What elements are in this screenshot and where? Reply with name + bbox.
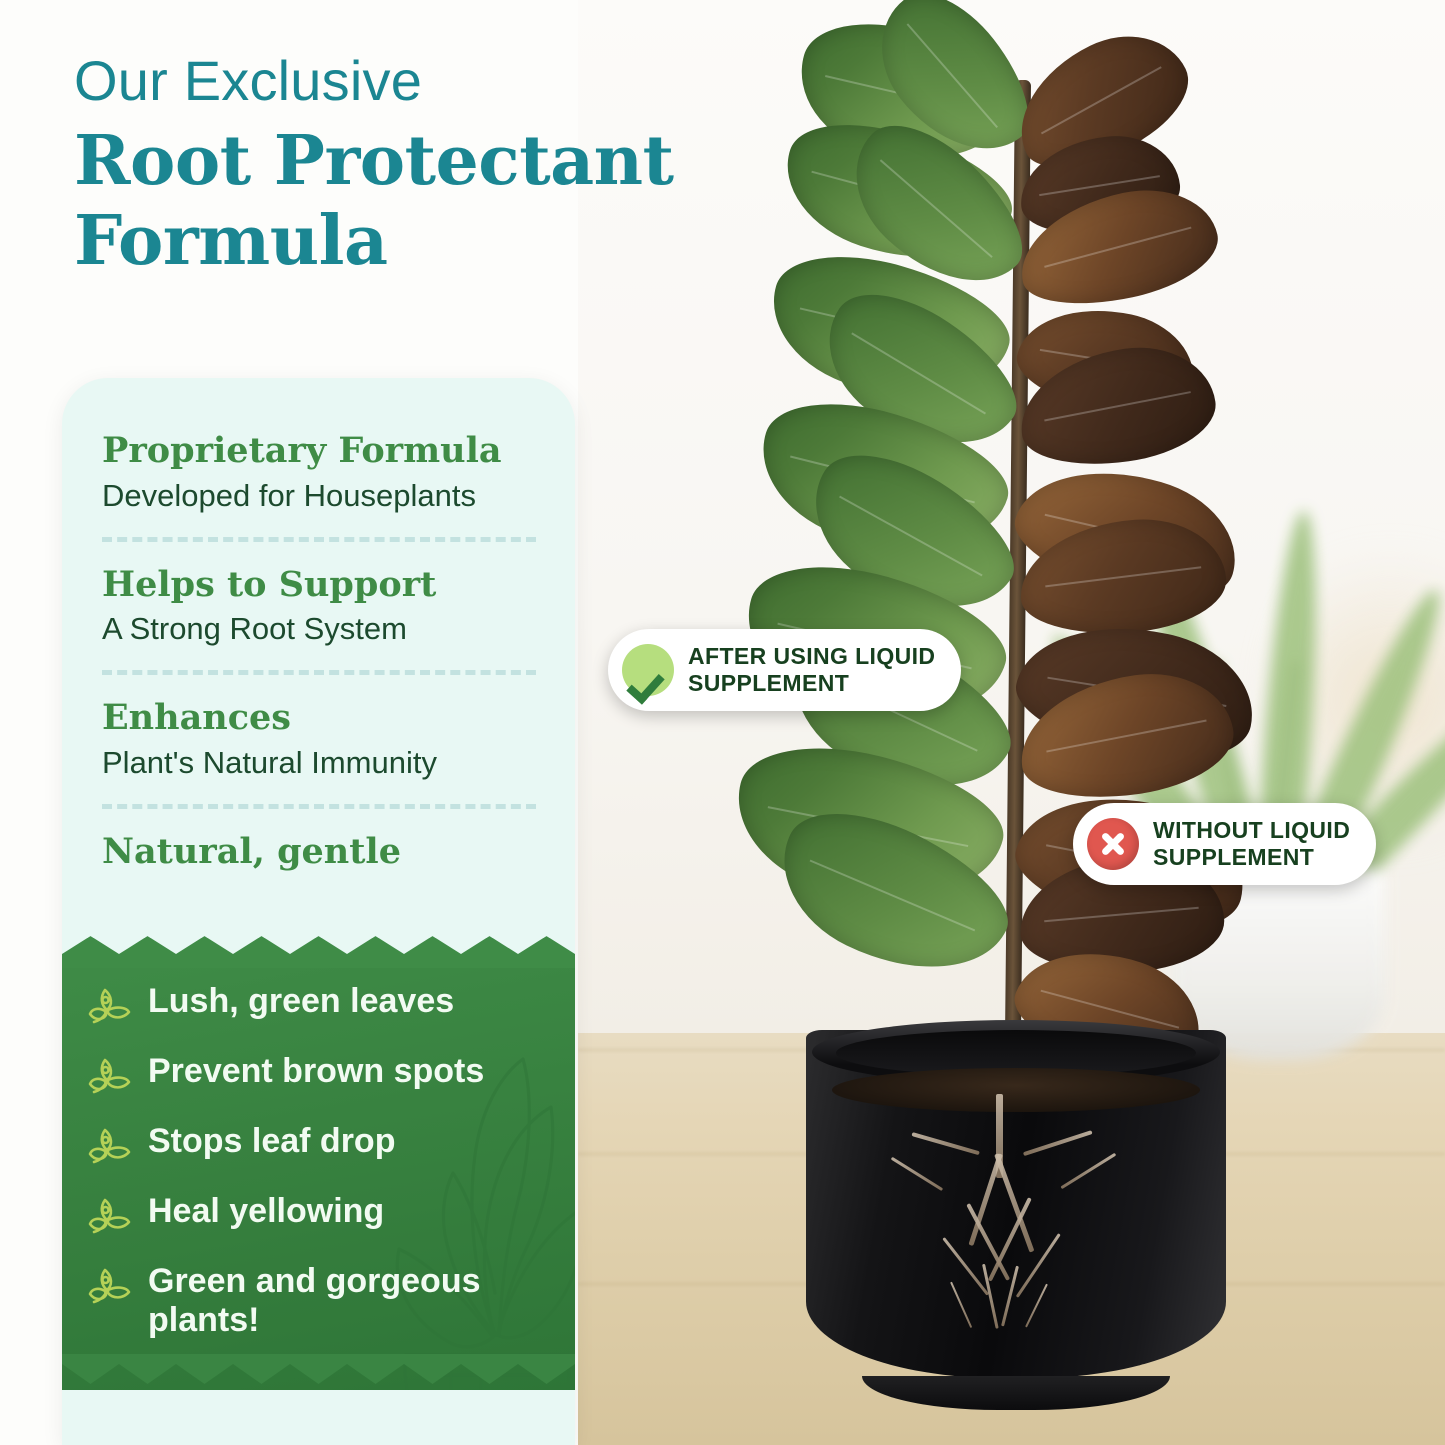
leaf-droplet-icon: [88, 1196, 132, 1236]
page-title: Root Protectant Formula: [74, 121, 734, 281]
root-system: [846, 1094, 1186, 1344]
features-list: Proprietary Formula Developed for Housep…: [102, 430, 536, 875]
x-circle-icon: [1087, 818, 1139, 870]
feature-item: Proprietary Formula Developed for Housep…: [102, 430, 536, 515]
page-headline: Our Exclusive Root Protectant Formula: [74, 52, 734, 281]
list-item: Heal yellowing: [88, 1192, 558, 1236]
black-ceramic-pot: [806, 1010, 1226, 1410]
panel-footer: [62, 1390, 575, 1445]
title-line-1: Root Protectant: [74, 121, 674, 201]
benefit-label: Prevent brown spots: [148, 1052, 484, 1091]
feature-heading: Enhances: [102, 697, 536, 740]
feature-item: Helps to Support A Strong Root System: [102, 564, 536, 649]
leaf-droplet-icon: [88, 1266, 132, 1306]
feature-divider: [102, 804, 536, 809]
feature-divider: [102, 537, 536, 542]
feature-subtext: A Strong Root System: [102, 610, 536, 648]
leaf-droplet-icon: [88, 986, 132, 1026]
badge-after-using-supplement[interactable]: AFTER USING LIQUIDSUPPLEMENT: [608, 629, 961, 711]
benefit-label: Stops leaf drop: [148, 1122, 395, 1161]
benefit-label: Heal yellowing: [148, 1192, 384, 1231]
list-item: Lush, green leaves: [88, 982, 558, 1026]
badge-without-supplement[interactable]: WITHOUT LIQUIDSUPPLEMENT: [1073, 803, 1376, 885]
feature-item: Natural, gentle: [102, 831, 536, 874]
feature-heading: Helps to Support: [102, 564, 536, 607]
feature-subtext: Developed for Houseplants: [102, 477, 536, 515]
benefits-list: Lush, green leaves Prevent brown spots: [88, 982, 558, 1367]
zigzag-top-edge: [62, 932, 575, 968]
headline-kicker: Our Exclusive: [74, 52, 734, 111]
benefits-panel: Lush, green leaves Prevent brown spots: [62, 912, 575, 1445]
list-item: Stops leaf drop: [88, 1122, 558, 1166]
feature-item: Enhances Plant's Natural Immunity: [102, 697, 536, 782]
features-panel: Proprietary Formula Developed for Housep…: [62, 378, 575, 1445]
list-item: Prevent brown spots: [88, 1052, 558, 1096]
leaf-droplet-icon: [88, 1056, 132, 1096]
badge-without-label: WITHOUT LIQUIDSUPPLEMENT: [1153, 817, 1350, 871]
benefit-label: Lush, green leaves: [148, 982, 454, 1021]
zigzag-bottom-edge: [62, 1354, 575, 1390]
check-circle-icon: [622, 644, 674, 696]
feature-heading: Natural, gentle: [102, 831, 536, 874]
leaf-droplet-icon: [88, 1126, 132, 1166]
fiddle-leaf-fig-plant: [698, 20, 1338, 1080]
benefit-label: Green and gorgeous plants!: [148, 1262, 558, 1341]
feature-heading: Proprietary Formula: [102, 430, 536, 473]
infographic-root: AFTER USING LIQUIDSUPPLEMENT WITHOUT LIQ…: [0, 0, 1445, 1445]
feature-subtext: Plant's Natural Immunity: [102, 744, 536, 782]
list-item: Green and gorgeous plants!: [88, 1262, 558, 1341]
title-line-2: Formula: [74, 201, 388, 281]
feature-divider: [102, 670, 536, 675]
badge-after-label: AFTER USING LIQUIDSUPPLEMENT: [688, 643, 935, 697]
